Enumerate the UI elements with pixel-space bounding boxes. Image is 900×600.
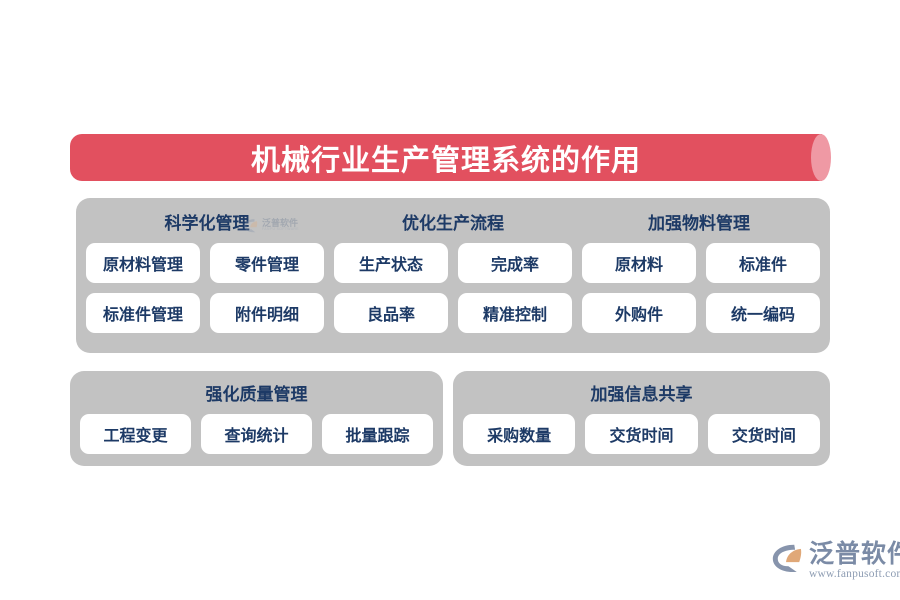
group-card-bottom-left: 强化质量管理 工程变更 查询统计 批量跟踪 (70, 371, 443, 466)
brand-url: www.fanpusoft.com (809, 568, 900, 580)
pill-unified-coding[interactable]: 统一编码 (706, 293, 820, 333)
pill-engineering-change[interactable]: 工程变更 (80, 414, 191, 454)
group-header-strengthen-information-sharing: 加强信息共享 (591, 386, 693, 403)
bottom-right-card-pill-row: 采购数量 交货时间 交货时间 (463, 414, 820, 454)
pill-standard-part-management[interactable]: 标准件管理 (86, 293, 200, 333)
group-header-strengthen-quality-management: 强化质量管理 (206, 386, 308, 403)
pill-delivery-time-1[interactable]: 交货时间 (585, 414, 697, 454)
pill-delivery-time-2[interactable]: 交货时间 (708, 414, 820, 454)
group-card-bottom-right: 加强信息共享 采购数量 交货时间 交货时间 (453, 371, 830, 466)
top-card-pill-grid: 原材料管理 零件管理 生产状态 完成率 原材料 标准件 标准件管理 附件明细 良… (86, 243, 820, 333)
group-header-scientific-management: 科学化管理 (84, 215, 330, 232)
pill-query-statistics[interactable]: 查询统计 (201, 414, 312, 454)
fanpu-logo-icon (772, 543, 805, 573)
pill-precise-control[interactable]: 精准控制 (458, 293, 572, 333)
pill-parts-management[interactable]: 零件管理 (210, 243, 324, 283)
pill-production-status[interactable]: 生产状态 (334, 243, 448, 283)
brand-logo: 泛普软件 www.fanpusoft.com (772, 541, 900, 580)
top-card-headers: 科学化管理 优化生产流程 加强物料管理 (84, 215, 822, 232)
bottom-left-card-header-row: 强化质量管理 (70, 386, 443, 403)
brand-name: 泛普软件 (809, 541, 900, 567)
title-banner: 机械行业生产管理系统的作用 (70, 134, 822, 181)
pill-completion-rate[interactable]: 完成率 (458, 243, 572, 283)
bottom-right-card-header-row: 加强信息共享 (453, 386, 830, 403)
group-header-optimize-production-process: 优化生产流程 (330, 215, 576, 232)
top-card-pill-row-2: 标准件管理 附件明细 良品率 精准控制 外购件 统一编码 (86, 293, 820, 333)
pill-outsourced-part[interactable]: 外购件 (582, 293, 696, 333)
pill-attachment-detail[interactable]: 附件明细 (210, 293, 324, 333)
pill-purchase-quantity[interactable]: 采购数量 (463, 414, 575, 454)
pill-raw-material-management[interactable]: 原材料管理 (86, 243, 200, 283)
brand-logo-words: 泛普软件 www.fanpusoft.com (809, 541, 900, 580)
pill-raw-material[interactable]: 原材料 (582, 243, 696, 283)
pill-yield-rate[interactable]: 良品率 (334, 293, 448, 333)
group-header-strengthen-material-management: 加强物料管理 (576, 215, 822, 232)
top-card-pill-row-1: 原材料管理 零件管理 生产状态 完成率 原材料 标准件 (86, 243, 820, 283)
pill-standard-part[interactable]: 标准件 (706, 243, 820, 283)
page-title: 机械行业生产管理系统的作用 (70, 134, 822, 181)
group-card-top: 科学化管理 优化生产流程 加强物料管理 原材料管理 零件管理 生产状态 完成率 … (76, 198, 830, 353)
poster-canvas: 机械行业生产管理系统的作用 科学化管理 优化生产流程 加强物料管理 原材料管理 … (0, 0, 900, 600)
pill-batch-tracking[interactable]: 批量跟踪 (322, 414, 433, 454)
bottom-left-card-pill-row: 工程变更 查询统计 批量跟踪 (80, 414, 433, 454)
